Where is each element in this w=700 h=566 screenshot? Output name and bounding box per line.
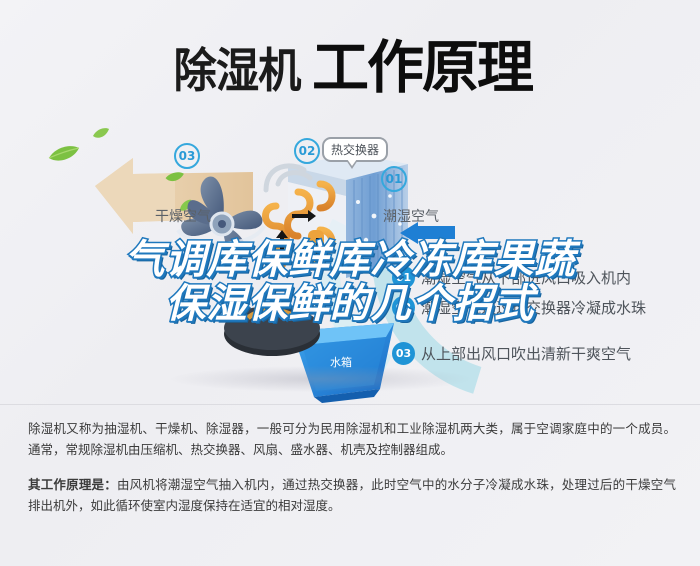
step-text-02: 潮湿空气通过热交换器冷凝成水珠: [421, 297, 646, 318]
step-badge-01-icon: 01: [392, 266, 415, 289]
paragraph-1: 除湿机又称为抽湿机、干燥机、除湿器，一般可分为民用除湿机和工业除湿机两大类，属于…: [28, 418, 676, 460]
badge-01-icon: 01: [381, 166, 407, 192]
infographic-page: 除湿机工作原理: [0, 0, 700, 566]
humid-air-label: 潮湿空气: [383, 206, 439, 226]
title-primary: 除湿机: [174, 32, 301, 101]
heat-exchanger-bubble: 热交换器: [322, 137, 388, 162]
step-badge-02-icon: 02: [392, 296, 415, 319]
machine-base-icon: [222, 306, 322, 360]
leaf-icon: [92, 127, 110, 140]
badge-03-icon: 03: [174, 143, 200, 169]
article-body: 除湿机又称为抽湿机、干燥机、除湿器，一般可分为民用除湿机和工业除湿机两大类，属于…: [28, 418, 676, 530]
badge-02-icon: 02: [294, 138, 320, 164]
title-secondary: 工作原理: [312, 22, 532, 104]
dehumidifier-diagram: 水箱 03 干燥空气 02 热交换器 01 潮湿空气 01 潮湿空气从下部进风口…: [0, 118, 700, 406]
paragraph-2-rest: 由风机将潮湿空气抽入机内，通过热交换器，此时空气中的水分子冷凝成水珠，处理过后的…: [28, 477, 676, 513]
paragraph-2-lead: 其工作原理是：: [28, 477, 117, 492]
step-item-02: 02 潮湿空气通过热交换器冷凝成水珠: [392, 296, 646, 319]
step-item-01: 01 潮湿空气从下部进风口吸入机内: [392, 266, 631, 289]
step-text-01: 潮湿空气从下部进风口吸入机内: [421, 267, 631, 288]
dry-air-label: 干燥空气: [155, 206, 211, 226]
step-item-03: 03 从上部出风口吹出清新干爽空气: [392, 342, 631, 365]
section-divider: [0, 404, 700, 405]
page-title: 除湿机工作原理: [0, 22, 700, 104]
drop-shadow: [170, 366, 470, 392]
paragraph-2: 其工作原理是：由风机将潮湿空气抽入机内，通过热交换器，此时空气中的水分子冷凝成水…: [28, 474, 676, 516]
step-badge-03-icon: 03: [392, 342, 415, 365]
step-text-03: 从上部出风口吹出清新干爽空气: [421, 343, 631, 364]
leaf-icon: [48, 144, 80, 164]
